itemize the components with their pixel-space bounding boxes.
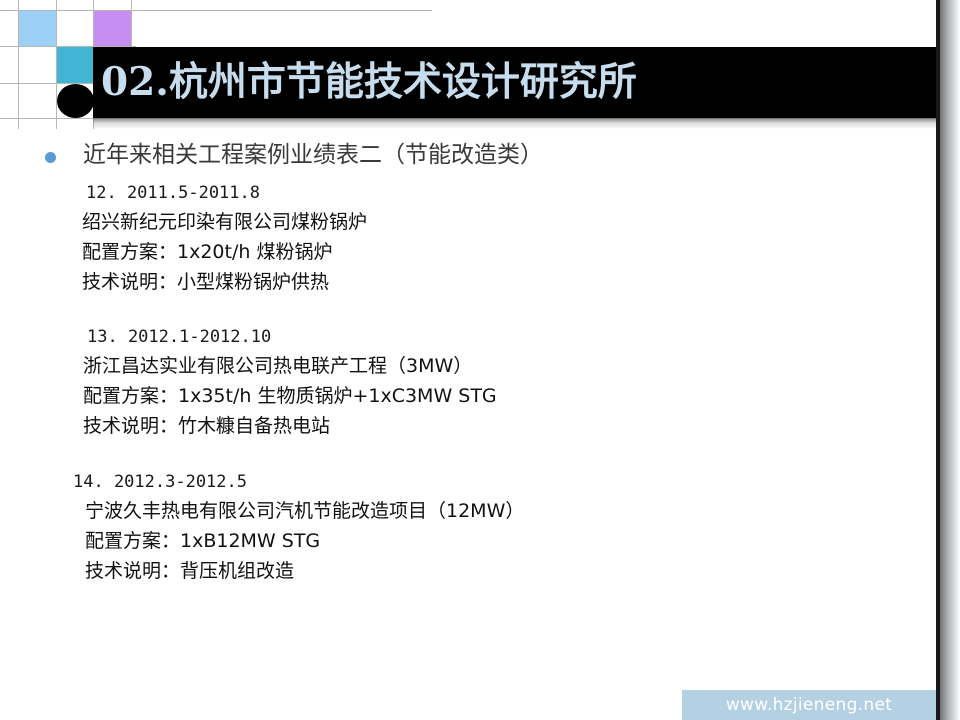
bullet-heading-label: 近年来相关工程案例业绩表二（节能改造类） bbox=[83, 140, 543, 170]
grid-line-horizontal-1 bbox=[0, 10, 432, 11]
entry-12-config: 配置方案：1x20t/h 煤粉锅炉 bbox=[82, 237, 936, 267]
entry-13-head: 13. 2012.1-2012.10 bbox=[87, 324, 936, 351]
decor-square-light-blue bbox=[19, 11, 56, 46]
entry-12-project: 绍兴新纪元印染有限公司煤粉锅炉 bbox=[82, 207, 936, 237]
title-bar-shadow bbox=[93, 118, 936, 129]
entry-item-12: 12. 2011.5-2011.8 绍兴新纪元印染有限公司煤粉锅炉 配置方案：1… bbox=[0, 180, 936, 297]
slide-right-shadow bbox=[940, 0, 960, 720]
entry-13-config: 配置方案：1x35t/h 生物质锅炉+1xC3MW STG bbox=[83, 381, 936, 411]
bullet-heading-row: 近年来相关工程案例业绩表二（节能改造类） bbox=[0, 140, 936, 174]
entry-14-head: 14. 2012.3-2012.5 bbox=[73, 469, 936, 496]
entry-14-config: 配置方案：1xB12MW STG bbox=[85, 526, 936, 556]
entry-14-tech: 技术说明：背压机组改造 bbox=[85, 556, 936, 586]
slide-content: 近年来相关工程案例业绩表二（节能改造类） 12. 2011.5-2011.8 绍… bbox=[0, 140, 936, 586]
page-title: 02.杭州市节能技术设计研究所 bbox=[101, 53, 637, 111]
entry-14-project: 宁波久丰热电有限公司汽机节能改造项目（12MW） bbox=[85, 496, 936, 526]
entry-13-project: 浙江昌达实业有限公司热电联产工程（3MW） bbox=[83, 351, 936, 381]
entry-item-13: 13. 2012.1-2012.10 浙江昌达实业有限公司热电联产工程（3MW）… bbox=[0, 324, 936, 441]
entry-12-head: 12. 2011.5-2011.8 bbox=[86, 180, 936, 207]
grid-line-vertical-4 bbox=[131, 0, 132, 48]
decor-circle-black bbox=[57, 84, 94, 118]
entry-12-tech: 技术说明：小型煤粉锅炉供热 bbox=[82, 267, 936, 297]
slide-canvas: 02.杭州市节能技术设计研究所 近年来相关工程案例业绩表二（节能改造类） 12.… bbox=[0, 0, 936, 720]
decor-square-teal bbox=[57, 47, 93, 83]
decor-square-purple bbox=[94, 11, 131, 46]
bullet-dot-icon bbox=[45, 152, 56, 163]
entry-13-tech: 技术说明：竹木糠自备热电站 bbox=[83, 411, 936, 441]
footer-watermark-url: www.hzjieneng.net bbox=[682, 690, 936, 720]
slide-root: 02.杭州市节能技术设计研究所 近年来相关工程案例业绩表二（节能改造类） 12.… bbox=[0, 0, 960, 720]
entry-item-14: 14. 2012.3-2012.5 宁波久丰热电有限公司汽机节能改造项目（12M… bbox=[0, 469, 936, 586]
